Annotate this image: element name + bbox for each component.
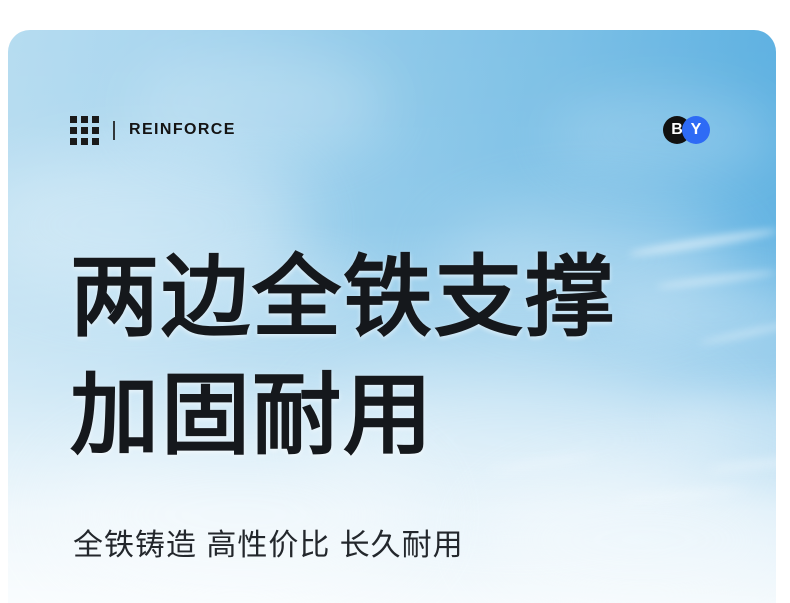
cloud-wisp bbox=[478, 470, 776, 603]
headline-line-1: 两边全铁支撑 bbox=[70, 238, 730, 356]
grid-3x3-icon bbox=[70, 116, 99, 145]
banner-page: REINFORCE B Y 两边全铁支撑 加固耐用 全铁铸造 高性价比 长久耐用 bbox=[0, 0, 790, 603]
cloud-streak bbox=[618, 487, 748, 502]
subtitle: 全铁铸造 高性价比 长久耐用 bbox=[73, 527, 464, 565]
headline-line-2: 加固耐用 bbox=[70, 356, 730, 474]
brand-lockup: REINFORCE bbox=[70, 116, 236, 145]
badge-letter-y: Y bbox=[682, 116, 710, 144]
banner-header: REINFORCE B Y bbox=[70, 110, 710, 150]
headline: 两边全铁支撑 加固耐用 bbox=[70, 238, 730, 475]
brand-divider bbox=[113, 121, 115, 140]
by-badge: B Y bbox=[663, 116, 710, 144]
brand-name: REINFORCE bbox=[129, 122, 236, 138]
